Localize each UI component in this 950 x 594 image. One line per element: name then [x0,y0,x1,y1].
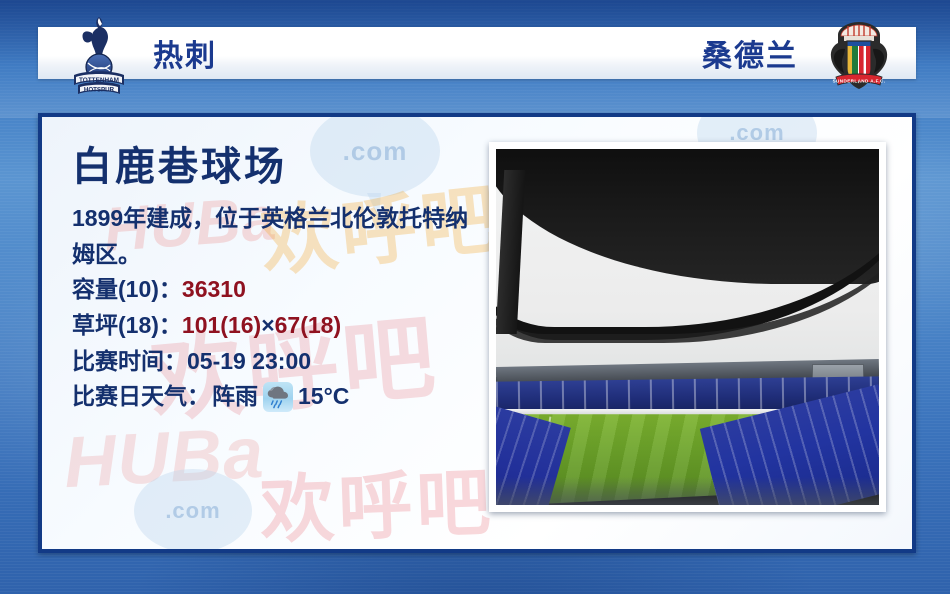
capacity-label: 容量(10)： [72,276,182,302]
photo-concourse [496,477,879,505]
stadium-text-column: 白鹿巷球场 1899年建成，位于英格兰北伦敦托特纳姆区。 容量(10)：3631… [72,145,492,415]
pitch-separator: × [261,312,274,338]
capacity-line: 容量(10)：36310 [72,272,492,308]
pitch-width: 67(18) [275,312,341,338]
watermark-bubble-bottom: .com [134,469,252,553]
match-time-label: 比赛时间： [72,348,187,374]
watermark-cn-bottom: 欢呼吧 [258,443,496,553]
stadium-title: 白鹿巷球场 [72,145,492,189]
away-crest-motto: SUNDERLAND A.F.C. [833,79,886,84]
home-team-name: 热刺 [153,31,217,75]
stadium-info-panel: .com .com HUBa 欢呼吧 欢呼吧 HUBa 欢呼吧 .com 白鹿巷… [38,113,916,553]
stadium-photo-frame [489,142,886,512]
stadium-photo [496,149,879,505]
match-time-line: 比赛时间：05-19 23:00 [72,344,492,380]
watermark-bubble-bottom-text: .com [165,498,220,524]
weather-label: 比赛日天气： [72,379,210,415]
match-header-bar: TOTTENHAM HOTSPUR 热刺 桑德兰 [38,27,916,79]
match-info-graphic: TOTTENHAM HOTSPUR 热刺 桑德兰 [0,0,950,594]
rain-shower-icon [263,382,293,412]
weather-line: 比赛日天气：阵雨 15°C [72,379,492,415]
stadium-description: 1899年建成，位于英格兰北伦敦托特纳姆区。 [72,201,482,272]
capacity-value: 36310 [182,276,246,302]
pitch-length: 101(16) [182,312,261,338]
pitch-label: 草坪(18)： [72,312,182,338]
watermark-latin-bottom: HUBa [62,412,266,504]
match-time-value: 05-19 23:00 [187,348,311,374]
away-team-name: 桑德兰 [702,31,798,75]
weather-condition: 阵雨 [212,379,258,415]
pitch-line: 草坪(18)：101(16)×67(18) [72,308,492,344]
temperature: 15°C [298,379,349,415]
away-team-crest: SUNDERLAND A.F.C. [824,19,894,93]
home-team-crest: TOTTENHAM HOTSPUR [68,13,130,97]
home-crest-motto-lower: HOTSPUR [84,87,115,94]
